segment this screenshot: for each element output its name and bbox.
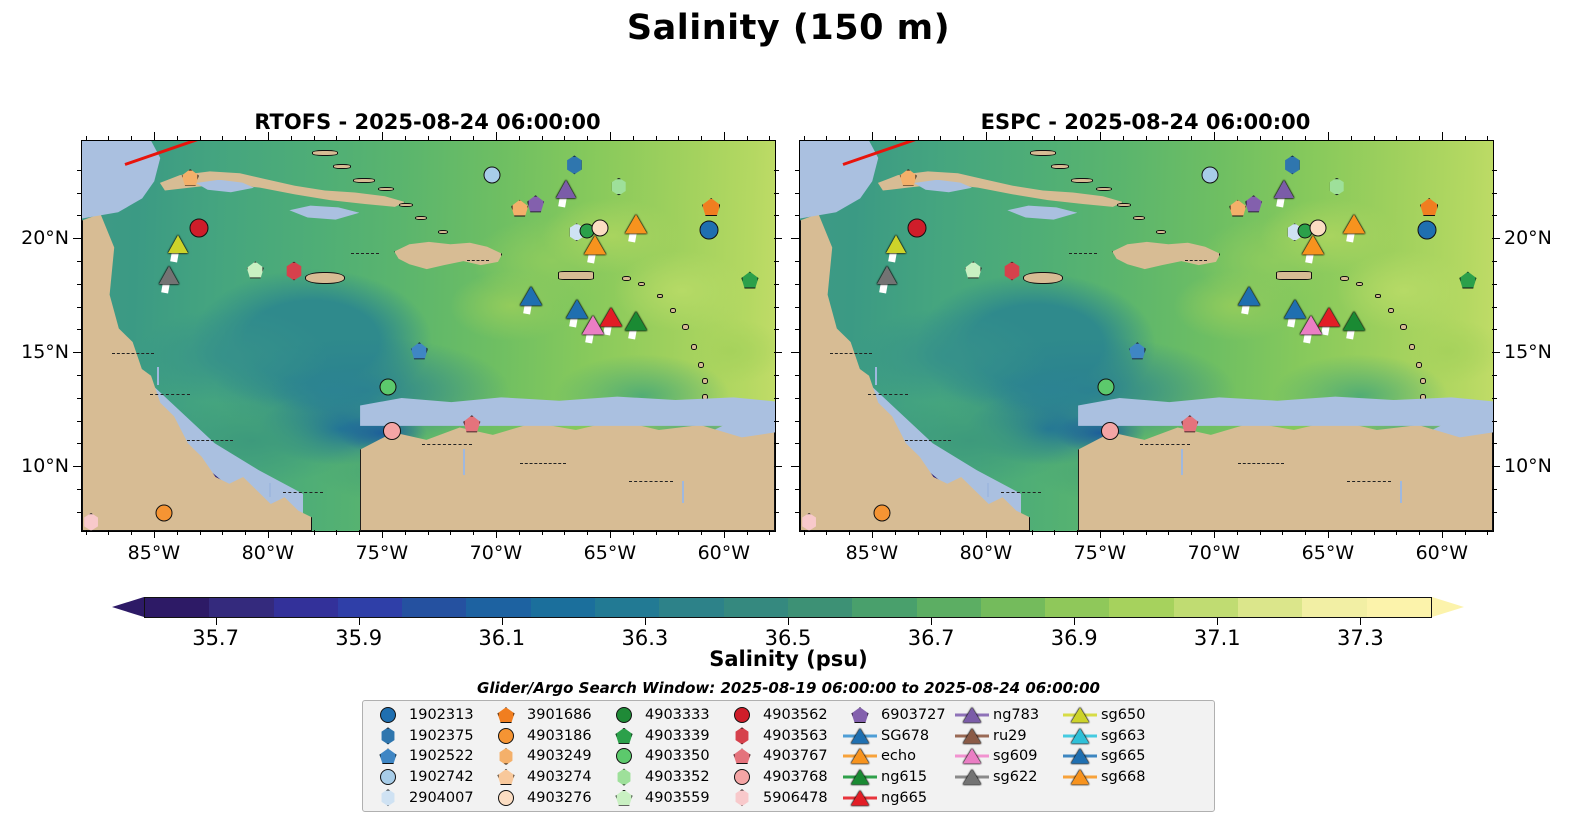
legend-column-4: 6903727 SG678 echo ng615 ng665 [843,705,955,809]
legend-marker-slot [843,726,877,746]
panel-title-rtofs: RTOFS - 2025-08-24 06:00:00 [81,110,774,134]
legend-column-5: ng783 ru29 sg609 sg622 [955,705,1063,809]
map-marker-sg622[interactable] [159,266,179,284]
xtick-label: 80°W [960,542,1012,564]
panel-title-espc: ESPC - 2025-08-24 06:00:00 [799,110,1492,134]
legend-column-2: 4903333 4903339 4903350 4903352 4903559 [607,705,725,809]
legend-marker-slot [843,788,877,808]
xtick-label: 60°W [698,542,750,564]
legend-item[interactable]: sg663 [1063,726,1163,747]
legend-marker-slot [607,767,641,787]
legend-item-label: 4903276 [523,790,592,806]
legend-marker-slot [607,788,641,808]
colorbar-band-6 [531,598,595,617]
map-panel-rtofs[interactable] [81,140,776,532]
colorbar-band-19 [1367,598,1431,617]
legend-item[interactable]: 4903186 [489,726,607,747]
colorbar-band-9 [724,598,788,617]
map-marker-4903562[interactable] [908,218,927,237]
map-marker-4903276[interactable] [1309,219,1326,236]
legend-marker-2904007 [381,789,396,806]
legend-marker-slot [371,705,405,725]
legend-marker-4903562 [734,707,750,723]
legend-marker-4903333 [616,707,632,723]
legend-item-label: echo [877,748,916,764]
legend-marker-slot [607,726,641,746]
legend-marker-sg609 [963,749,981,764]
colorbar-band-8 [659,598,723,617]
legend-marker-ng615 [851,770,869,785]
legend-marker-1902522 [380,748,397,764]
legend-marker-slot [371,746,405,766]
ytick-label: 10°N [7,455,69,477]
map-marker-ng783[interactable] [1274,180,1294,198]
xtick-label: 65°W [1302,542,1354,564]
legend-marker-slot [371,788,405,808]
colorbar-band-16 [1174,598,1238,617]
map-marker-4903186[interactable] [874,504,891,521]
colorbar-band-7 [595,598,659,617]
legend-marker-6903727 [852,707,869,723]
legend-item-label: 4903768 [759,769,828,785]
map-marker-4903186[interactable] [156,504,173,521]
legend-item[interactable]: 4903768 [725,767,843,788]
legend-item-label: 4903333 [641,707,710,723]
legend-marker-ru29 [963,728,981,743]
legend-item[interactable]: 1902522 [371,746,489,767]
legend-marker-4903563 [735,727,750,744]
colorbar-band-13 [981,598,1045,617]
legend-marker-sg665 [1071,749,1089,764]
map-marker-sg650[interactable] [168,235,188,253]
legend-marker-slot [1063,746,1097,766]
xtick-label: 70°W [470,542,522,564]
map-marker-sg668[interactable] [1343,215,1365,234]
legend-item[interactable]: 4903350 [607,746,725,767]
legend-marker-slot [843,746,877,766]
legend-item[interactable]: sg650 [1063,705,1163,726]
legend-marker-4903339 [616,728,633,744]
legend-marker-slot [843,767,877,787]
legend-marker-ng783 [963,708,981,723]
legend-item-label: ru29 [989,728,1027,744]
legend-item-label: sg663 [1097,728,1145,744]
map-marker-4903276[interactable] [591,219,608,236]
legend-item[interactable]: sg665 [1063,746,1163,767]
legend-marker-slot [607,705,641,725]
map-marker-SG678[interactable] [1238,287,1260,306]
legend-marker-slot [955,726,989,746]
map-marker-sg609[interactable] [582,315,604,334]
legend-item-label: 6903727 [877,707,946,723]
legend-item[interactable]: 4903339 [607,726,725,747]
colorbar-band-14 [1045,598,1109,617]
legend-marker-3901686 [498,707,515,723]
legend-marker-slot [371,767,405,787]
map-marker-ng783[interactable] [556,180,576,198]
legend-marker-slot [489,767,523,787]
legend-marker-4903559 [616,790,633,806]
legend-marker-4903276 [498,790,514,806]
ytick-label: 20°N [7,227,69,249]
legend-item-label: 4903350 [641,748,710,764]
legend-item-label: sg668 [1097,769,1145,785]
legend-item[interactable]: sg668 [1063,767,1163,788]
legend-marker-SG678 [851,728,869,743]
map-marker-sg622[interactable] [877,266,897,284]
legend-marker-slot [489,788,523,808]
legend-item[interactable]: 4903352 [607,767,725,788]
legend-item-label: 1902522 [405,748,474,764]
legend-column-3: 4903562 4903563 4903767 4903768 5906478 [725,705,843,809]
colorbar-gradient [144,597,1432,618]
xtick-label: 65°W [584,542,636,564]
legend-marker-slot [1063,767,1097,787]
legend-marker-ng665 [851,790,869,805]
legend-item[interactable]: sg622 [955,767,1063,788]
legend-item-label: 4903562 [759,707,828,723]
map-marker-1902742[interactable] [484,167,501,184]
ytick-label: 10°N [1504,455,1574,477]
xtick-label: 85°W [128,542,180,564]
map-panel-espc[interactable] [799,140,1494,532]
map-marker-ng615[interactable] [625,312,647,331]
map-marker-4903768[interactable] [383,422,401,440]
legend-marker-5906478 [735,789,750,806]
legend-item[interactable]: 1902375 [371,726,489,747]
map-marker-4903768[interactable] [1101,422,1119,440]
map-marker-4903333[interactable] [1097,379,1114,396]
map-marker-1902313[interactable] [699,220,718,239]
xtick-label: 70°W [1188,542,1240,564]
colorbar-band-5 [466,598,530,617]
legend-marker-slot [1063,705,1097,725]
colorbar-band-12 [917,598,981,617]
legend-item-label: 4903339 [641,728,710,744]
legend-item-label: 3901686 [523,707,592,723]
ytick-label: 15°N [1504,341,1574,363]
colorbar-extend-max [1432,597,1464,617]
xtick-label: 85°W [846,542,898,564]
colorbar-band-2 [274,598,338,617]
legend-item-label: sg622 [989,769,1037,785]
legend-marker-slot [725,726,759,746]
legend-item[interactable]: 4903333 [607,705,725,726]
legend-marker-1902375 [381,727,396,744]
legend-column-6: sg650 sg663 sg665 sg668 [1063,705,1163,809]
legend-item-label: sg650 [1097,707,1145,723]
xtick-label: 60°W [1416,542,1468,564]
legend-item-label: 4903352 [641,769,710,785]
legend-marker-4903350 [616,748,632,764]
map-marker-echo[interactable] [1302,235,1324,254]
legend-marker-slot [843,705,877,725]
legend-item-label: 4903563 [759,728,828,744]
legend-marker-slot [607,746,641,766]
legend-item-label: sg609 [989,748,1037,764]
legend-item-label: ng665 [877,790,927,806]
ytick-label: 20°N [1504,227,1574,249]
legend-item[interactable]: 4903274 [489,767,607,788]
legend-marker-slot [489,726,523,746]
legend-column-1: 3901686 4903186 4903249 4903274 4903276 [489,705,607,809]
legend-marker-sg622 [963,770,981,785]
legend-item[interactable]: 4903563 [725,726,843,747]
xtick-label: 80°W [242,542,294,564]
legend-marker-4903274 [498,769,515,785]
legend-marker-4903352 [617,769,632,786]
colorbar-band-10 [788,598,852,617]
legend-item[interactable]: SG678 [843,726,955,747]
legend-marker-1902313 [380,707,396,723]
legend-column-0: 1902313 1902375 1902522 1902742 2904007 [371,705,489,809]
legend-marker-echo [851,749,869,764]
legend-item[interactable]: 3901686 [489,705,607,726]
legend-marker-slot [489,705,523,725]
legend-marker-slot [725,788,759,808]
map-marker-1902313[interactable] [1417,220,1436,239]
legend-marker-slot [725,767,759,787]
colorbar[interactable] [112,597,1464,618]
legend-item-label: 4903249 [523,748,592,764]
legend-marker-slot [1063,726,1097,746]
legend-item-label: 2904007 [405,790,474,806]
map-marker-1902742[interactable] [1202,167,1219,184]
legend-item-label: 4903186 [523,728,592,744]
legend-item[interactable]: 4903559 [607,787,725,808]
legend-item[interactable]: 6903727 [843,705,955,726]
legend-marker-4903186 [498,728,514,744]
legend-marker-sg668 [1071,770,1089,785]
legend-item-label: ng615 [877,769,927,785]
legend-item[interactable]: 4903767 [725,746,843,767]
colorbar-band-4 [402,598,466,617]
legend-item-label: 1902375 [405,728,474,744]
legend-marker-slot [955,705,989,725]
legend-box[interactable]: 1902313 1902375 1902522 1902742 2904007 … [362,700,1215,812]
legend-item[interactable]: ng783 [955,705,1063,726]
legend-marker-slot [955,746,989,766]
legend-marker-4903768 [734,769,750,785]
legend-item-label: 1902742 [405,769,474,785]
map-marker-sg650[interactable] [886,235,906,253]
legend-marker-slot [725,746,759,766]
legend-marker-sg663 [1071,728,1089,743]
legend-item-label: 5906478 [759,790,828,806]
colorbar-band-0 [145,598,209,617]
legend-item-label: ng783 [989,707,1039,723]
map-marker-echo[interactable] [584,235,606,254]
colorbar-band-3 [338,598,402,617]
ytick-label: 15°N [7,341,69,363]
legend-marker-slot [489,746,523,766]
map-marker-ng615[interactable] [1343,312,1365,331]
legend-item[interactable]: 4903562 [725,705,843,726]
legend-marker-1902742 [380,769,396,785]
legend-item-label: 4903559 [641,790,710,806]
colorbar-band-15 [1109,598,1173,617]
map-marker-4903333[interactable] [379,379,396,396]
legend-item[interactable]: 5906478 [725,787,843,808]
legend-item-label: 1902313 [405,707,474,723]
legend-title: Glider/Argo Search Window: 2025-08-19 06… [0,679,1577,697]
legend-item[interactable]: ru29 [955,726,1063,747]
legend-marker-4903249 [499,748,514,765]
figure-title: Salinity (150 m) [0,8,1577,48]
xtick-label: 75°W [356,542,408,564]
legend-marker-slot [955,767,989,787]
legend-item[interactable]: 2904007 [371,787,489,808]
colorbar-label: Salinity (psu) [0,647,1577,671]
map-marker-4903562[interactable] [190,218,209,237]
legend-item[interactable]: echo [843,746,955,767]
colorbar-band-17 [1238,598,1302,617]
colorbar-band-11 [852,598,916,617]
legend-item-label: 4903274 [523,769,592,785]
legend-item[interactable]: ng665 [843,787,955,808]
legend-marker-slot [725,705,759,725]
legend-item[interactable]: 4903276 [489,787,607,808]
legend-item-label: SG678 [877,728,929,744]
legend-item[interactable]: 1902742 [371,767,489,788]
legend-marker-slot [371,726,405,746]
legend-item[interactable]: ng615 [843,767,955,788]
map-marker-sg668[interactable] [625,215,647,234]
colorbar-band-1 [209,598,273,617]
colorbar-extend-min [112,597,144,617]
legend-item-label: sg665 [1097,748,1145,764]
xtick-label: 75°W [1074,542,1126,564]
map-marker-sg609[interactable] [1300,315,1322,334]
map-marker-SG678[interactable] [520,287,542,306]
legend-item[interactable]: 1902313 [371,705,489,726]
colorbar-band-18 [1302,598,1366,617]
legend-item-label: 4903767 [759,748,828,764]
legend-marker-4903767 [734,748,751,764]
legend-item[interactable]: sg609 [955,746,1063,767]
legend-item[interactable]: 4903249 [489,746,607,767]
legend-marker-sg650 [1071,708,1089,723]
